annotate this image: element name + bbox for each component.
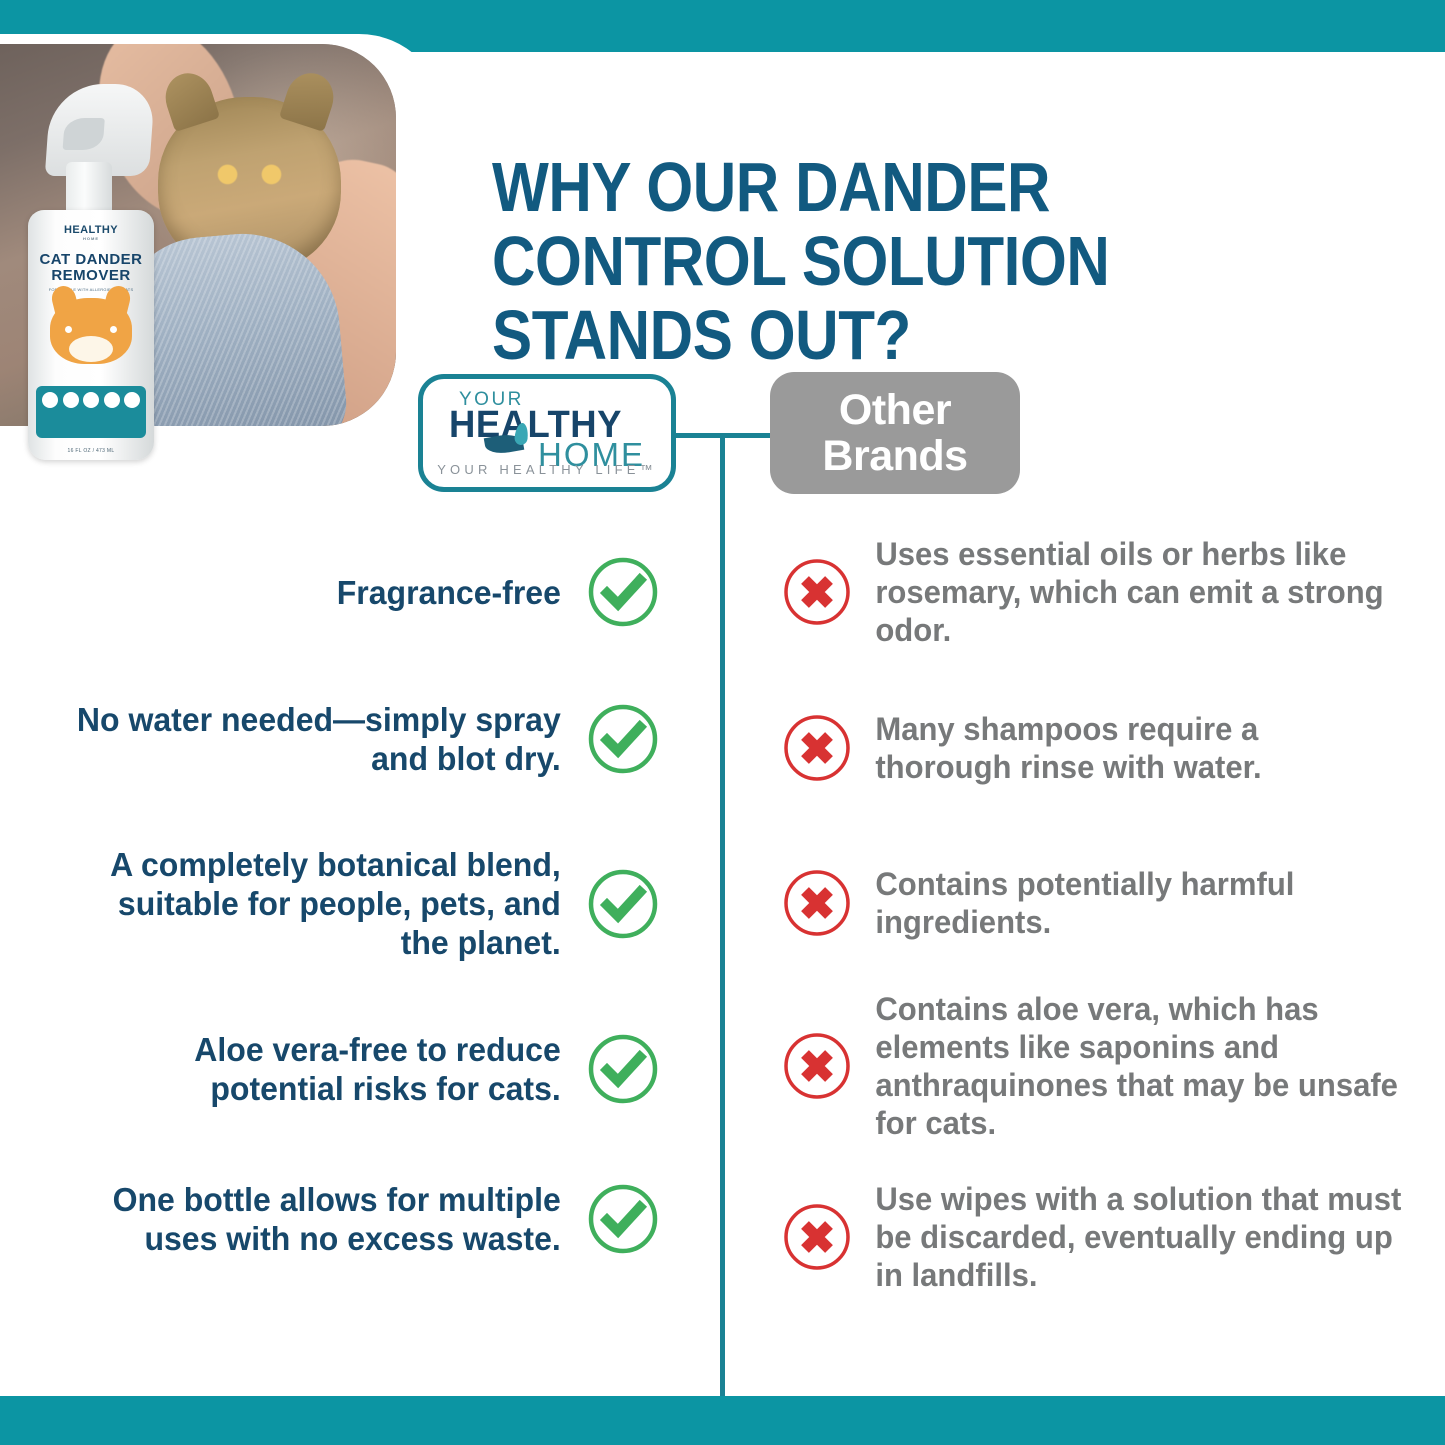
con-row: Many shampoos require a thorough rinse w… [780,710,1420,786]
bottle-body-label: HEALTHY HOME CAT DANDER REMOVER FOR PEOP… [28,210,154,460]
logo-tagline: YOUR HEALTHY LIFE™ [423,462,671,477]
bottle-cat-illustration [50,298,132,364]
bottle-logo-healthy: HEALTHY [64,224,118,236]
pro-text: One bottle allows for multiple uses with… [76,1180,586,1258]
con-row: Uses essential oils or herbs like rosema… [780,535,1420,649]
con-text: Many shampoos require a thorough rinse w… [854,710,1403,786]
check-circle-icon [586,1032,660,1106]
bottle-benefit-band [36,386,146,438]
infographic-page: HEALTHY HOME CAT DANDER REMOVER FOR PEOP… [0,0,1445,1445]
pro-text: Fragrance-free [337,573,586,612]
product-bottle: HEALTHY HOME CAT DANDER REMOVER FOR PEOP… [22,84,162,464]
bottle-benefit-icons [42,392,140,408]
con-text: Contains potentially harmful ingredients… [854,865,1403,941]
cross-circle-icon [780,711,854,785]
cross-circle-icon [780,555,854,629]
con-text: Use wipes with a solution that must be d… [854,1180,1403,1294]
cross-circle-icon [780,1029,854,1103]
other-brands-badge: OtherBrands [770,372,1020,494]
benefit-icon-1 [42,392,58,408]
benefit-icon-2 [63,392,79,408]
footer-teal-band [0,1396,1445,1445]
pro-row: A completely botanical blend, suitable f… [60,845,660,962]
connector-vertical-divider [720,433,725,1397]
pro-row: Fragrance-free [60,555,660,629]
check-circle-icon [586,867,660,941]
con-row: Use wipes with a solution that must be d… [780,1180,1420,1294]
bottle-logo-home: HOME [28,236,154,241]
other-brands-label: OtherBrands [822,387,967,479]
bottle-product-subtitle: FOR PEOPLE WITH ALLERGIES TO CATS [28,287,154,292]
pro-row: No water needed—simply spray and blot dr… [60,700,660,778]
other-brands-line1: Other [839,386,951,434]
pro-row: One bottle allows for multiple uses with… [60,1180,660,1258]
con-text: Contains aloe vera, which has elements l… [854,990,1403,1142]
other-brands-line2: Brands [822,432,967,480]
brand-logo-badge: YOUR HEALTHY HOME YOUR HEALTHY LIFE™ [418,374,676,492]
bottle-logo: HEALTHY HOME [28,224,154,241]
pro-text: No water needed—simply spray and blot dr… [76,700,586,778]
cross-circle-icon [780,866,854,940]
pro-text: Aloe vera-free to reduce potential risks… [76,1030,586,1108]
bottle-product-title: CAT DANDER REMOVER [28,252,154,284]
page-title: WHY OUR DANDER CONTROL SOLUTION STANDS O… [492,150,1283,372]
pro-row: Aloe vera-free to reduce potential risks… [60,1030,660,1108]
benefit-icon-3 [83,392,99,408]
check-circle-icon [586,1182,660,1256]
bottle-cat-muzzle [69,336,113,362]
check-circle-icon [586,702,660,776]
bottle-volume: 16 FL OZ / 473 ML [28,448,154,454]
check-circle-icon [586,555,660,629]
cross-circle-icon [780,1200,854,1274]
pro-text: A completely botanical blend, suitable f… [76,845,586,962]
con-row: Contains aloe vera, which has elements l… [780,990,1420,1142]
con-row: Contains potentially harmful ingredients… [780,865,1420,941]
bottle-cat-eyes [65,326,117,333]
benefit-icon-5 [124,392,140,408]
benefit-icon-4 [104,392,120,408]
con-text: Uses essential oils or herbs like rosema… [854,535,1403,649]
